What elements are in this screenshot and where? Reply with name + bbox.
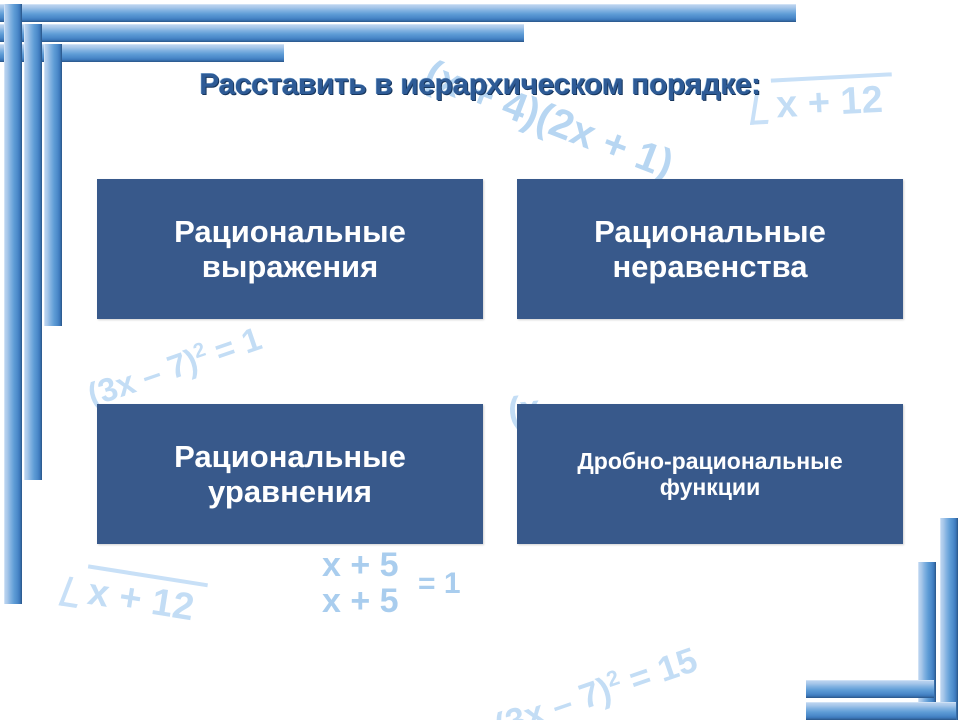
watermark-square-bottom-exponent: 2 bbox=[603, 664, 623, 692]
fraction-result: = 1 bbox=[418, 567, 461, 600]
decor-bar-top-2 bbox=[0, 24, 524, 42]
watermark-sqrt-bottom-radicand: x + 12 bbox=[81, 564, 208, 631]
page-title: Расставить в иерархическом порядке: bbox=[0, 68, 960, 102]
decor-bar-top-3 bbox=[0, 44, 284, 62]
box-label-line1: Рациональные bbox=[174, 214, 406, 249]
box-label-line2: неравенства bbox=[612, 249, 807, 284]
watermark-sqrt-bottom: x + 12 bbox=[61, 561, 208, 631]
fraction-numerator: x + 5 bbox=[322, 546, 399, 584]
watermark-fraction: x + 5 x + 5 = 1 bbox=[322, 548, 461, 619]
box-label: Рациональные выражения bbox=[174, 214, 406, 285]
box-label: Рациональные неравенства bbox=[594, 214, 826, 285]
watermark-square-bottom: (3x – 7)2 = 15 bbox=[489, 639, 703, 720]
watermark-square-bottom-tail: = 15 bbox=[624, 640, 702, 699]
box-label-line2: уравнения bbox=[208, 474, 372, 509]
radical-sign-bottom-icon bbox=[59, 577, 88, 608]
box-rational-equations[interactable]: Рациональные уравнения bbox=[97, 404, 483, 544]
slide-canvas: x + 12 (x + 4)(2x + 1) (3x – 7)2 = 1 (x … bbox=[0, 0, 960, 720]
watermark-square-left-tail: = 1 bbox=[210, 320, 266, 370]
decor-bar-top-1 bbox=[0, 4, 796, 22]
fraction-denominator: x + 5 bbox=[322, 584, 399, 620]
watermark-square-bottom-base: (3x – 7) bbox=[490, 670, 617, 720]
fraction-block: x + 5 x + 5 bbox=[322, 548, 399, 619]
box-label: Дробно-рациональные функции bbox=[577, 448, 842, 500]
box-label-line1: Рациональные bbox=[594, 214, 826, 249]
watermark-square-left-base: (3x – 7) bbox=[83, 341, 203, 413]
box-label: Рациональные уравнения bbox=[174, 439, 406, 510]
box-label-line1: Рациональные bbox=[174, 439, 406, 474]
box-rational-expressions[interactable]: Рациональные выражения bbox=[97, 179, 483, 319]
decor-bar-bottom-2 bbox=[806, 680, 934, 698]
decor-bar-bottom-1 bbox=[806, 702, 956, 720]
watermark-square-left: (3x – 7)2 = 1 bbox=[83, 320, 267, 415]
box-fractional-rational-functions[interactable]: Дробно-рациональные функции bbox=[517, 404, 903, 544]
watermark-square-left-exponent: 2 bbox=[190, 338, 208, 363]
box-label-line2: функции bbox=[660, 474, 760, 500]
decor-bar-right-1 bbox=[940, 518, 958, 720]
box-rational-inequalities[interactable]: Рациональные неравенства bbox=[517, 179, 903, 319]
box-label-line2: выражения bbox=[202, 249, 378, 284]
box-label-line1: Дробно-рациональные bbox=[577, 448, 842, 474]
